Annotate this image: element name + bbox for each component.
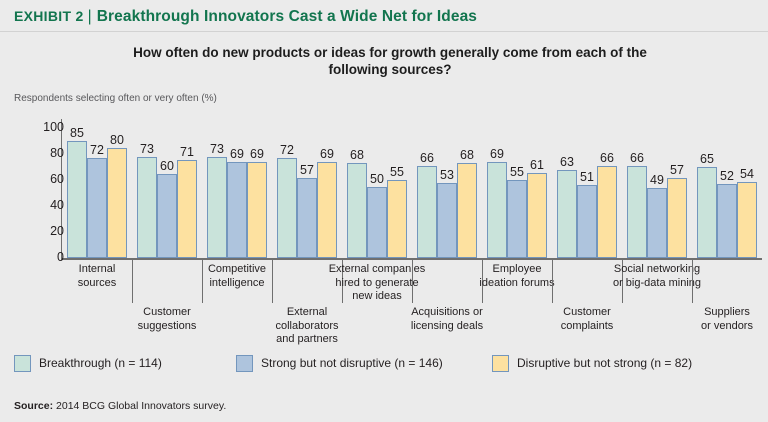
bar-item[interactable]: 72 [277, 122, 297, 258]
legend-label: Strong but not disruptive (n = 146) [261, 356, 443, 370]
bar-value-label: 65 [700, 152, 714, 166]
bar-item[interactable]: 50 [367, 122, 387, 258]
bar-value-label: 55 [390, 165, 404, 179]
bar-value-label: 69 [230, 147, 244, 161]
category-label-line: Internal [39, 263, 155, 277]
bar-value-label: 63 [560, 155, 574, 169]
category-label: Customersuggestions [109, 306, 225, 333]
bar-item[interactable]: 66 [417, 122, 437, 258]
header-divider [0, 31, 768, 32]
bar-value-label: 57 [670, 163, 684, 177]
bar-value-label: 72 [90, 143, 104, 157]
bar[interactable] [107, 148, 127, 258]
bar-group: 664957 [627, 122, 687, 258]
bar[interactable] [647, 188, 667, 258]
category-label-line: or big-data mining [599, 277, 715, 291]
bar-item[interactable]: 69 [317, 122, 337, 258]
category-separator [692, 259, 693, 303]
legend-label: Disruptive but not strong (n = 82) [517, 356, 692, 370]
bar-value-label: 66 [420, 151, 434, 165]
category-label-line: External [249, 306, 365, 320]
bar[interactable] [577, 185, 597, 258]
bar[interactable] [157, 174, 177, 258]
bar-value-label: 57 [300, 163, 314, 177]
bar-value-label: 60 [160, 159, 174, 173]
category-separator [412, 259, 413, 303]
bar-item[interactable]: 66 [627, 122, 647, 258]
bar-group: 736071 [137, 122, 197, 258]
bar[interactable] [557, 170, 577, 258]
bar[interactable] [227, 162, 247, 258]
bar[interactable] [207, 157, 227, 258]
bar[interactable] [527, 173, 547, 258]
legend-label: Breakthrough (n = 114) [39, 356, 162, 370]
plot-area: 8572807360717369697257696850556653686955… [62, 122, 762, 258]
bar[interactable] [247, 162, 267, 258]
bar-item[interactable]: 68 [457, 122, 477, 258]
category-label-line: collaborators [249, 320, 365, 334]
exhibit-title: Breakthrough Innovators Cast a Wide Net … [97, 8, 477, 25]
y-tick-label: 60 [24, 172, 64, 186]
category-label: Employeeideation forums [459, 263, 575, 290]
bar-value-label: 54 [740, 167, 754, 181]
bar-item[interactable]: 49 [647, 122, 667, 258]
bar-value-label: 72 [280, 143, 294, 157]
bar[interactable] [697, 167, 717, 258]
category-label-line: licensing deals [389, 320, 505, 334]
bar[interactable] [717, 184, 737, 258]
legend-item[interactable]: Disruptive but not strong (n = 82) [492, 355, 692, 372]
bar[interactable] [437, 183, 457, 258]
chart-subtitle: How often do new products or ideas for g… [110, 44, 670, 78]
bar-group: 725769 [277, 122, 337, 258]
bar-item[interactable]: 57 [667, 122, 687, 258]
bar[interactable] [457, 163, 477, 258]
bar-value-label: 61 [530, 158, 544, 172]
bar[interactable] [137, 157, 157, 258]
category-label-line: new ideas [319, 290, 435, 304]
bar-value-label: 69 [320, 147, 334, 161]
bar[interactable] [417, 166, 437, 258]
bar-value-label: 85 [70, 126, 84, 140]
bar-item[interactable]: 80 [107, 122, 127, 258]
chart-container: 8572807360717369697257696850556653686955… [0, 110, 768, 320]
bar-item[interactable]: 54 [737, 122, 757, 258]
category-label-line: Customer [529, 306, 645, 320]
bar-group: 736969 [207, 122, 267, 258]
exhibit-label: Exhibit 2 [14, 8, 84, 24]
bar[interactable] [597, 166, 617, 258]
y-tick-label: 100 [24, 120, 64, 134]
bar-value-label: 66 [600, 151, 614, 165]
bar-item[interactable]: 65 [697, 122, 717, 258]
category-label-line: Suppliers [669, 306, 768, 320]
category-label: Customercomplaints [529, 306, 645, 333]
bar[interactable] [507, 180, 527, 258]
bar[interactable] [67, 141, 87, 258]
bar-item[interactable]: 66 [597, 122, 617, 258]
category-label: Suppliersor vendors [669, 306, 768, 333]
legend-swatch [14, 355, 31, 372]
source-note: Source: 2014 BCG Global Innovators surve… [14, 400, 226, 412]
category-label-line: and partners [249, 333, 365, 347]
bar-value-label: 71 [180, 145, 194, 159]
bar-item[interactable]: 69 [247, 122, 267, 258]
category-label-line: Acquisitions or [389, 306, 505, 320]
bar-value-label: 68 [460, 148, 474, 162]
bar-value-label: 53 [440, 168, 454, 182]
bar-value-label: 69 [490, 147, 504, 161]
y-tick-label: 20 [24, 224, 64, 238]
bar[interactable] [317, 162, 337, 258]
bar-group: 665368 [417, 122, 477, 258]
bar[interactable] [627, 166, 647, 258]
bar-value-label: 66 [630, 151, 644, 165]
bar-item[interactable]: 53 [437, 122, 457, 258]
bar-item[interactable]: 63 [557, 122, 577, 258]
bar-item[interactable]: 55 [387, 122, 407, 258]
y-tick-label: 0 [24, 250, 64, 264]
legend-item[interactable]: Breakthrough (n = 114) [14, 355, 162, 372]
legend-item[interactable]: Strong but not disruptive (n = 146) [236, 355, 443, 372]
bar-group: 695561 [487, 122, 547, 258]
bar-item[interactable]: 55 [507, 122, 527, 258]
category-label-line: External companies [319, 263, 435, 277]
bar[interactable] [667, 178, 687, 258]
legend-swatch [236, 355, 253, 372]
category-label-line: or vendors [669, 320, 768, 334]
category-label-line: Social networking [599, 263, 715, 277]
page-title: Exhibit 2|Breakthrough Innovators Cast a… [14, 8, 477, 26]
bar[interactable] [487, 162, 507, 258]
category-label-line: Employee [459, 263, 575, 277]
bar-value-label: 55 [510, 165, 524, 179]
bar-group: 655254 [697, 122, 757, 258]
bar-item[interactable]: 71 [177, 122, 197, 258]
category-label-line: sources [39, 277, 155, 291]
bar[interactable] [177, 160, 197, 258]
category-label: Competitiveintelligence [179, 263, 295, 290]
bar-item[interactable]: 60 [157, 122, 177, 258]
bar-item[interactable]: 73 [207, 122, 227, 258]
bar-value-label: 73 [140, 142, 154, 156]
bar[interactable] [347, 163, 367, 258]
bar-item[interactable]: 69 [227, 122, 247, 258]
bar-group: 857280 [67, 122, 127, 258]
bar-group: 635166 [557, 122, 617, 258]
bar-item[interactable]: 73 [137, 122, 157, 258]
bar[interactable] [297, 178, 317, 258]
category-label: Acquisitions orlicensing deals [389, 306, 505, 333]
category-separator [132, 259, 133, 303]
category-label-line: Competitive [179, 263, 295, 277]
y-tick-label: 80 [24, 146, 64, 160]
legend-swatch [492, 355, 509, 372]
category-label-line: hired to generate [319, 277, 435, 291]
category-label: Social networkingor big-data mining [599, 263, 715, 290]
bar[interactable] [87, 158, 107, 258]
category-label: Externalcollaboratorsand partners [249, 306, 365, 347]
bar-item[interactable]: 69 [487, 122, 507, 258]
bar-item[interactable]: 85 [67, 122, 87, 258]
title-separator: | [88, 8, 92, 25]
bar-item[interactable]: 51 [577, 122, 597, 258]
category-separator [552, 259, 553, 303]
y-axis-note: Respondents selecting often or very ofte… [14, 93, 217, 104]
bar-value-label: 69 [250, 147, 264, 161]
bar-value-label: 51 [580, 170, 594, 184]
category-label-line: ideation forums [459, 277, 575, 291]
bar-item[interactable]: 57 [297, 122, 317, 258]
bar[interactable] [367, 187, 387, 258]
bar[interactable] [737, 182, 757, 258]
category-label-line: intelligence [179, 277, 295, 291]
y-tick-label: 40 [24, 198, 64, 212]
source-label: Source: [14, 400, 53, 412]
bar-value-label: 52 [720, 169, 734, 183]
bar-value-label: 68 [350, 148, 364, 162]
bar-value-label: 50 [370, 172, 384, 186]
source-text: 2014 BCG Global Innovators survey. [53, 400, 226, 412]
category-label-line: suggestions [109, 320, 225, 334]
bar-item[interactable]: 68 [347, 122, 367, 258]
category-label-line: Customer [109, 306, 225, 320]
category-label-line: complaints [529, 320, 645, 334]
bar-item[interactable]: 72 [87, 122, 107, 258]
bar[interactable] [387, 180, 407, 258]
category-label: Internalsources [39, 263, 155, 290]
category-label: External companieshired to generatenew i… [319, 263, 435, 304]
bar[interactable] [277, 158, 297, 258]
bar-value-label: 73 [210, 142, 224, 156]
category-separator [272, 259, 273, 303]
bar-item[interactable]: 61 [527, 122, 547, 258]
bar-value-label: 80 [110, 133, 124, 147]
bar-group: 685055 [347, 122, 407, 258]
bar-value-label: 49 [650, 173, 664, 187]
bar-item[interactable]: 52 [717, 122, 737, 258]
